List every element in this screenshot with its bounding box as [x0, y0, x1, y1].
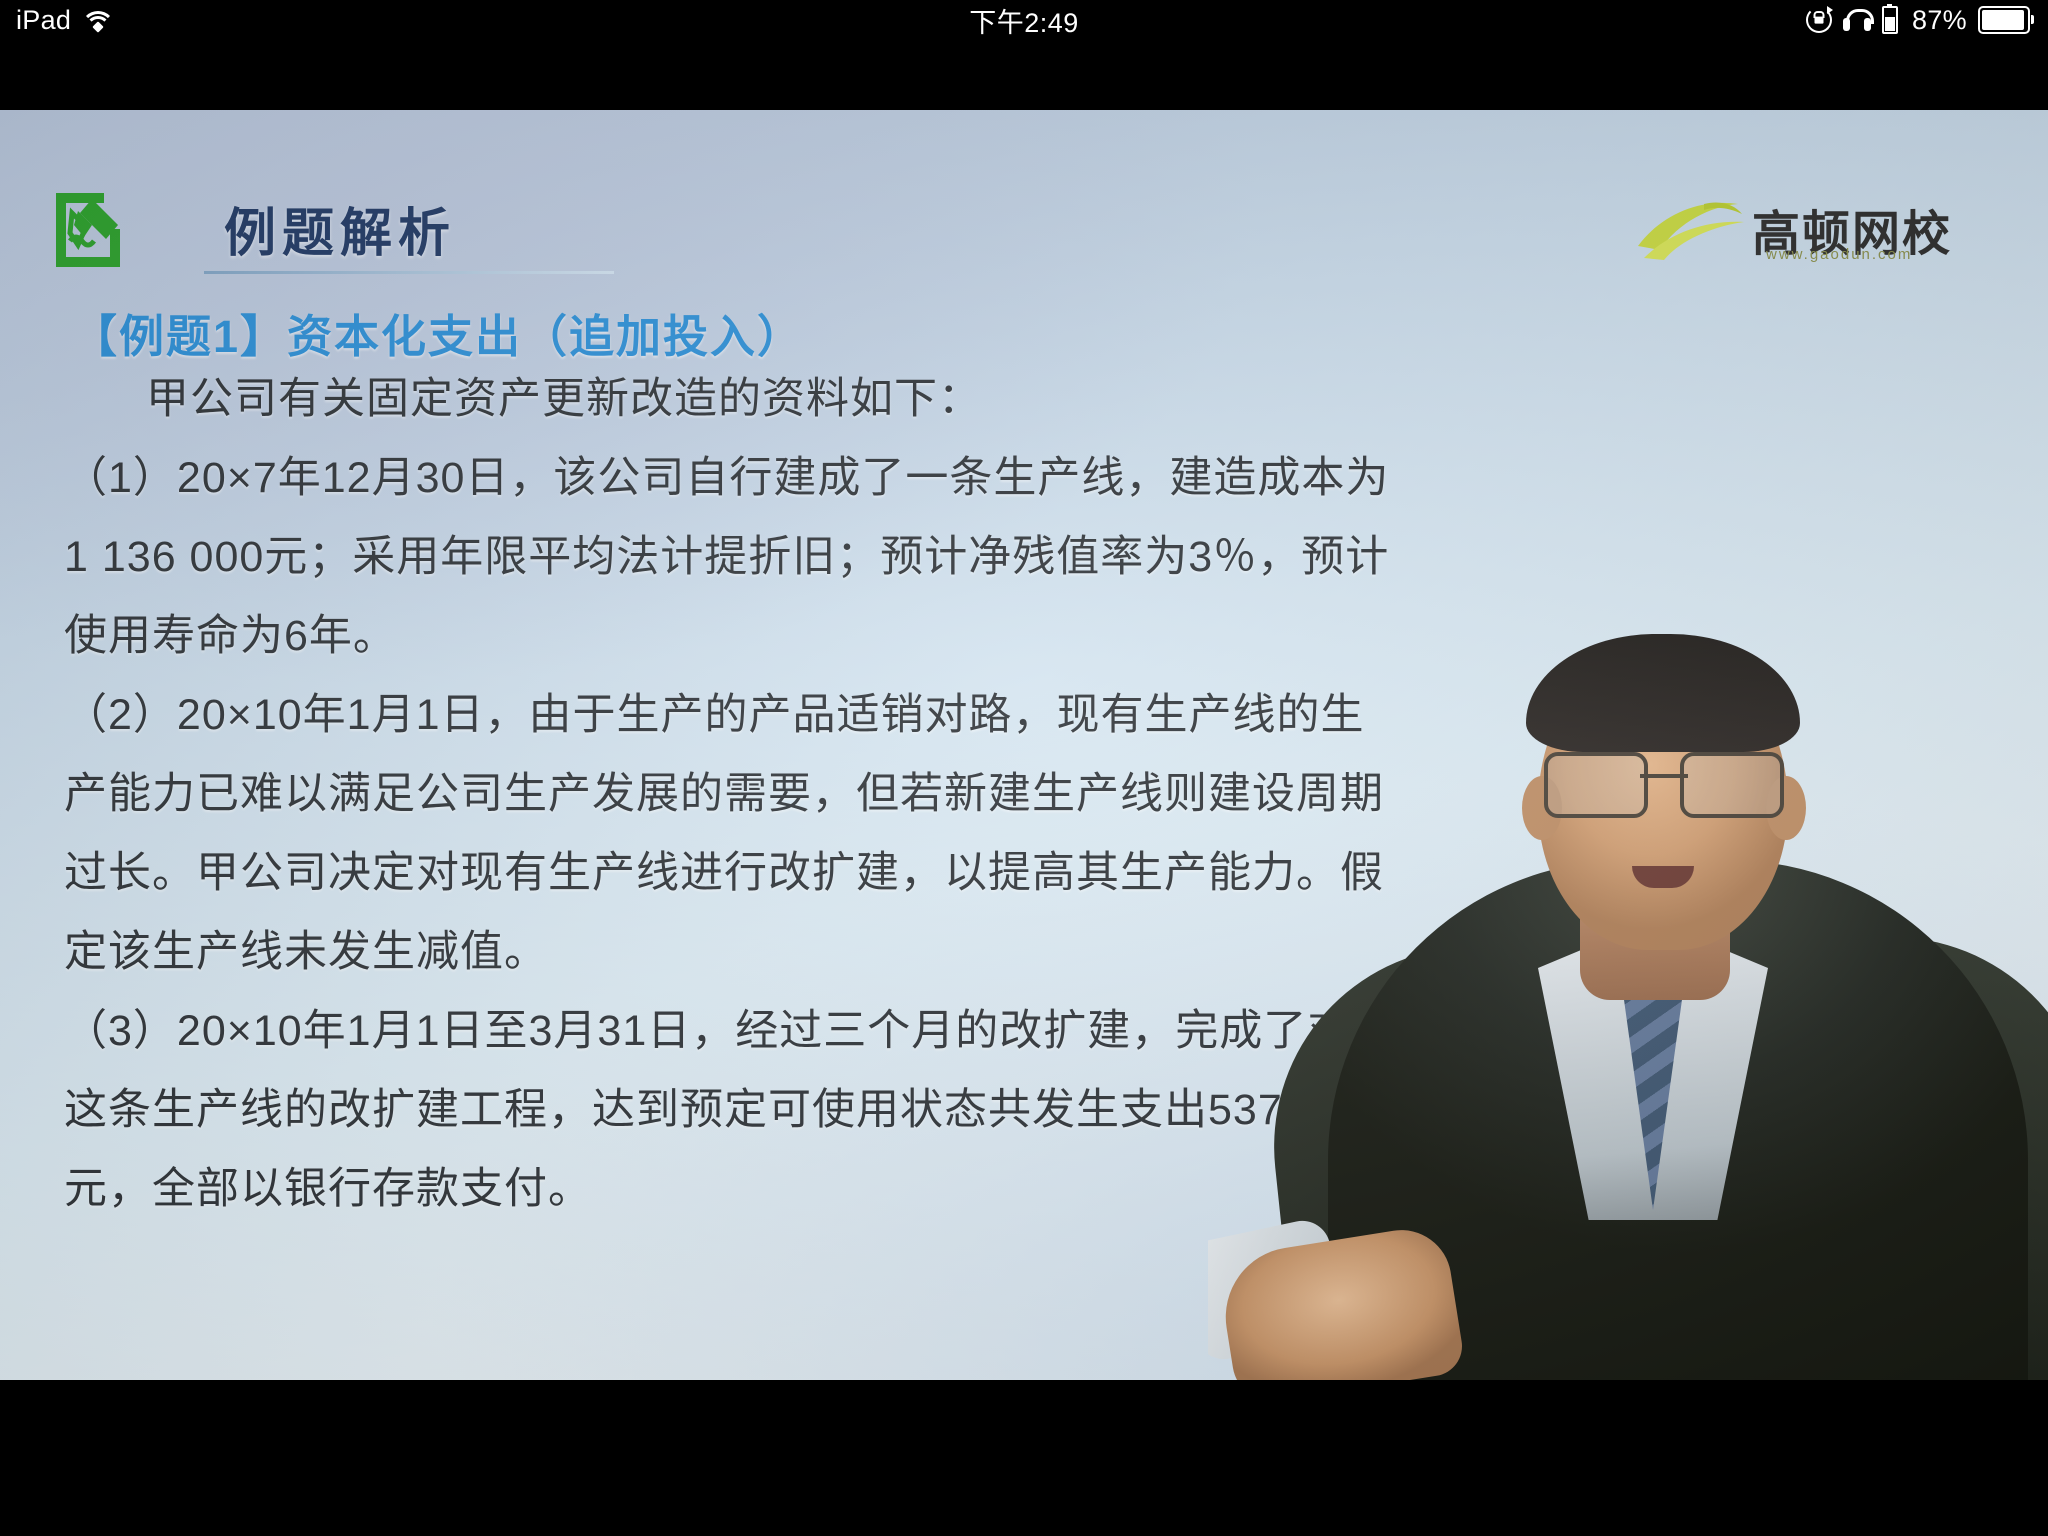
- presenter-head: [1538, 650, 1788, 950]
- battery-percent: 87%: [1912, 5, 1967, 36]
- presenter-neck: [1580, 870, 1730, 1000]
- brand-url: www.gaodun.com: [1766, 246, 1912, 263]
- problem-paragraph-2: （2）20×10年1月1日，由于生产的产品适销对路，现有生产线的生产能力已难以满…: [64, 676, 1394, 992]
- presenter-shirt-cuff: [1208, 1216, 1349, 1365]
- problem-paragraph-3: （3）20×10年1月1日至3月31日，经过三个月的改扩建，完成了对这条生产线的…: [64, 992, 1394, 1229]
- rotation-lock-icon: [1806, 7, 1832, 33]
- presenter-right-ear: [1766, 776, 1806, 840]
- glasses-icon: [1542, 752, 1786, 814]
- presenter-necktie: [1613, 920, 1693, 1210]
- presenter-hand: [1216, 1223, 1467, 1380]
- battery-icon: [1978, 6, 2030, 34]
- lecture-slide: 例题解析 高顿网校 www.gaodun.com 【例题1】资本化支出（追加投入…: [0, 110, 2048, 1380]
- headphones-icon: [1843, 9, 1871, 31]
- brand-logo: 高顿网校 www.gaodun.com: [1634, 184, 2024, 276]
- letterbox-top: [0, 40, 2048, 110]
- small-battery-icon: [1882, 6, 1898, 34]
- status-bar-clock: 下午2:49: [0, 1, 2048, 40]
- problem-paragraph-1: （1）20×7年12月30日，该公司自行建成了一条生产线，建造成本为1 136 …: [64, 439, 1394, 676]
- presenter-hair: [1526, 634, 1800, 752]
- problem-body: 甲公司有关固定资产更新改造的资料如下： （1）20×7年12月30日，该公司自行…: [64, 360, 1394, 1229]
- presenter-shirt: [1538, 920, 1768, 1220]
- presenter-left-ear: [1522, 776, 1562, 840]
- presenter-right-shoulder: [1738, 927, 2048, 1380]
- ios-status-bar: iPad 下午2:49 87%: [0, 0, 2048, 40]
- title-underline: [204, 271, 614, 274]
- document-pencil-icon: [48, 185, 136, 271]
- example-heading: 【例题1】资本化支出（追加投入）: [72, 300, 804, 365]
- presenter-mouth: [1632, 866, 1694, 888]
- problem-paragraph-intro: 甲公司有关固定资产更新改造的资料如下：: [64, 360, 1394, 439]
- status-bar-right: 87%: [1806, 5, 2030, 36]
- slide-header: 例题解析: [48, 185, 1448, 285]
- page-title: 例题解析: [224, 191, 456, 266]
- presenter-suit: [1328, 860, 2028, 1380]
- swoosh-logo-icon: [1634, 192, 1754, 262]
- letterbox-bottom: [0, 1380, 2048, 1536]
- lecture-video-player[interactable]: 例题解析 高顿网校 www.gaodun.com 【例题1】资本化支出（追加投入…: [0, 110, 2048, 1380]
